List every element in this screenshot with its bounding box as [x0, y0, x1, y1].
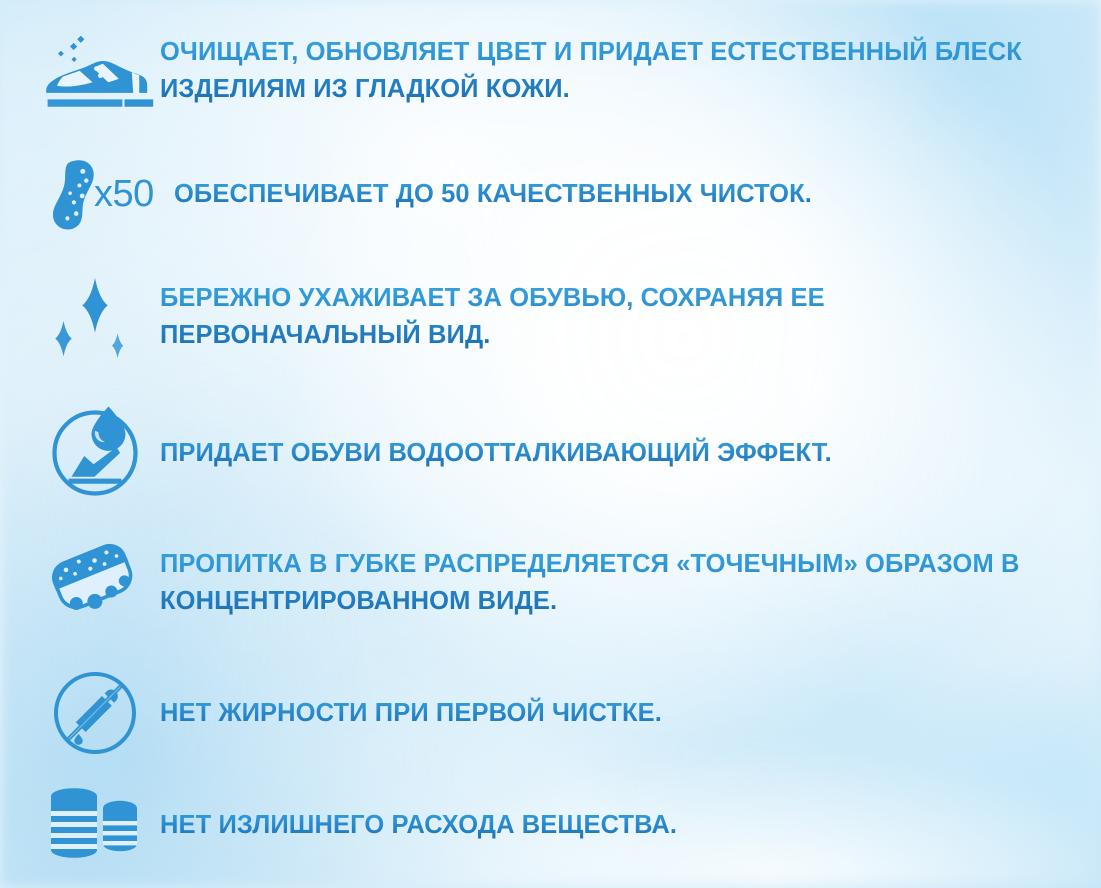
water-repellent-icon: [30, 404, 160, 502]
sparkles-icon: [30, 272, 160, 362]
feature-text: ОБЕСПЕЧИВАЕТ ДО 50 КАЧЕСТВЕННЫХ ЧИСТОК.: [174, 176, 812, 212]
feature-text: ПРОПИТКА В ГУБКЕ РАСПРЕДЕЛЯЕТСЯ «ТОЧЕЧНЫ…: [160, 546, 1020, 619]
sponge-dotted-icon: [30, 535, 160, 631]
sponge-icon: [44, 158, 100, 230]
feature-text: БЕРЕЖНО УХАЖИВАЕТ ЗА ОБУВЬЮ, СОХРАНЯЯ ЕЕ…: [160, 280, 825, 353]
no-grease-pipette-icon: [30, 666, 160, 760]
feature-item-cleans-and-refreshes: ОЧИЩАЕТ, ОБНОВЛЯЕТ ЦВЕТ И ПРИДАЕТ ЕСТЕСТ…: [30, 28, 1022, 114]
feature-item-up-to-50-cleanings: x50 ОБЕСПЕЧИВАЕТ ДО 50 КАЧЕСТВЕННЫХ ЧИСТ…: [30, 158, 812, 230]
feature-item-gentle-care: БЕРЕЖНО УХАЖИВАЕТ ЗА ОБУВЬЮ, СОХРАНЯЯ ЕЕ…: [30, 272, 825, 362]
feature-text: НЕТ ЖИРНОСТИ ПРИ ПЕРВОЙ ЧИСТКЕ.: [160, 695, 662, 731]
feature-item-no-waste: НЕТ ИЗЛИШНЕГО РАСХОДА ВЕЩЕСТВА.: [30, 784, 677, 866]
feature-text: НЕТ ИЗЛИШНЕГО РАСХОДА ВЕЩЕСТВА.: [160, 807, 677, 843]
sponge-count-group: x50: [30, 158, 174, 230]
coin-stacks-icon: [30, 784, 160, 866]
feature-item-water-repellent: ПРИДАЕТ ОБУВИ ВОДООТТАЛКИВАЮЩИЙ ЭФФЕКТ.: [30, 404, 832, 502]
count-badge: x50: [94, 175, 154, 213]
feature-list-poster: ОЧИЩАЕТ, ОБНОВЛЯЕТ ЦВЕТ И ПРИДАЕТ ЕСТЕСТ…: [0, 0, 1101, 888]
feature-text: ОЧИЩАЕТ, ОБНОВЛЯЕТ ЦВЕТ И ПРИДАЕТ ЕСТЕСТ…: [160, 34, 1022, 107]
feature-text: ПРИДАЕТ ОБУВИ ВОДООТТАЛКИВАЮЩИЙ ЭФФЕКТ.: [160, 435, 832, 471]
feature-item-dotted-impregnation: ПРОПИТКА В ГУБКЕ РАСПРЕДЕЛЯЕТСЯ «ТОЧЕЧНЫ…: [30, 535, 1020, 631]
dress-shoe-sparkle-icon: [30, 28, 160, 114]
feature-item-no-grease: НЕТ ЖИРНОСТИ ПРИ ПЕРВОЙ ЧИСТКЕ.: [30, 666, 662, 760]
